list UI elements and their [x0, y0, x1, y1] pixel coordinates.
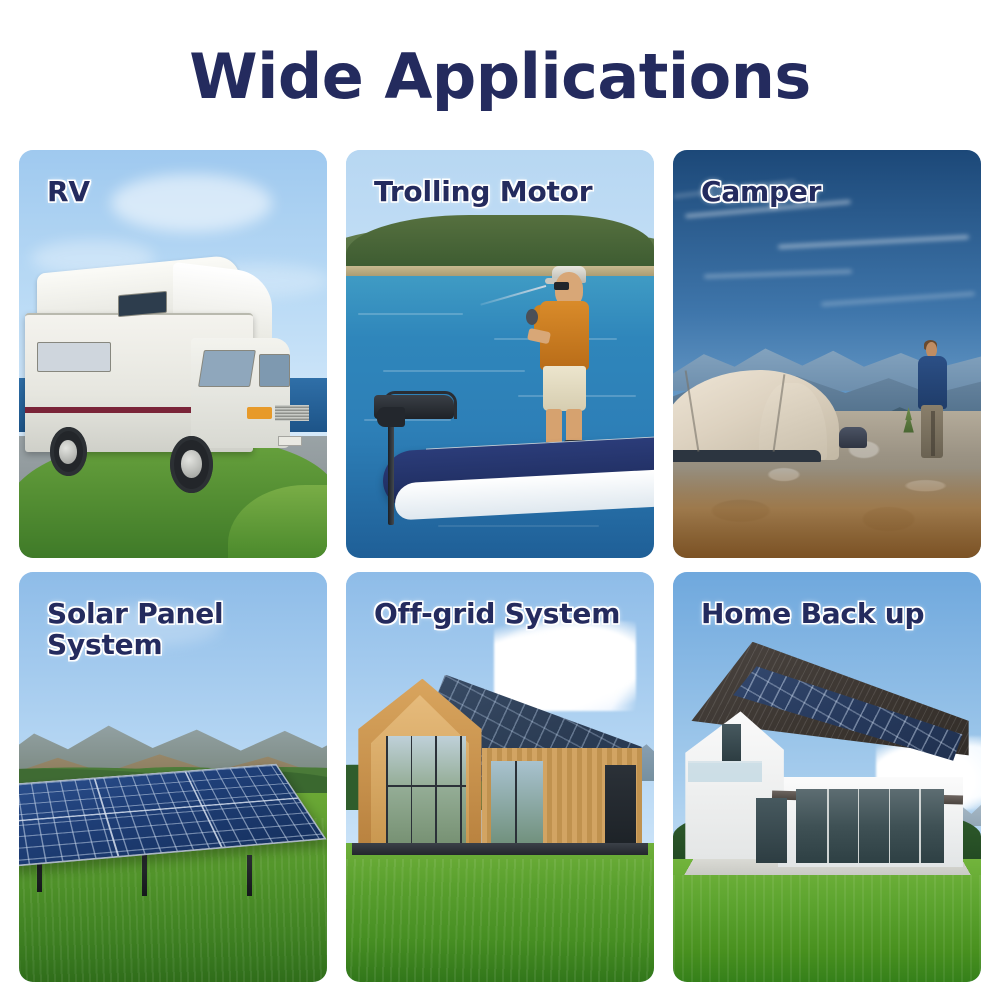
application-card-solar-panel-system[interactable]: Solar Panel System [19, 572, 327, 982]
rv-scene-image [19, 150, 327, 558]
card-label-trolling-motor: Trolling Motor [374, 176, 592, 207]
card-label-off-grid-system: Off-grid System [374, 598, 620, 629]
application-card-camper[interactable]: Camper [673, 150, 981, 558]
off-grid-scene-image [346, 572, 654, 982]
page-root: Wide Applications [0, 0, 1000, 1000]
application-card-off-grid-system[interactable]: Off-grid System [346, 572, 654, 982]
camper-scene-image [673, 150, 981, 558]
application-card-trolling-motor[interactable]: Trolling Motor [346, 150, 654, 558]
trolling-motor-scene-image [346, 150, 654, 558]
card-label-camper: Camper [701, 176, 821, 207]
card-label-solar-panel-system: Solar Panel System [47, 598, 223, 661]
card-label-home-back-up: Home Back up [701, 598, 924, 629]
applications-grid: RV [19, 150, 981, 982]
application-card-rv[interactable]: RV [19, 150, 327, 558]
home-backup-scene-image [673, 572, 981, 982]
card-label-rv: RV [47, 176, 90, 207]
application-card-home-back-up[interactable]: Home Back up [673, 572, 981, 982]
page-title: Wide Applications [0, 44, 1000, 109]
